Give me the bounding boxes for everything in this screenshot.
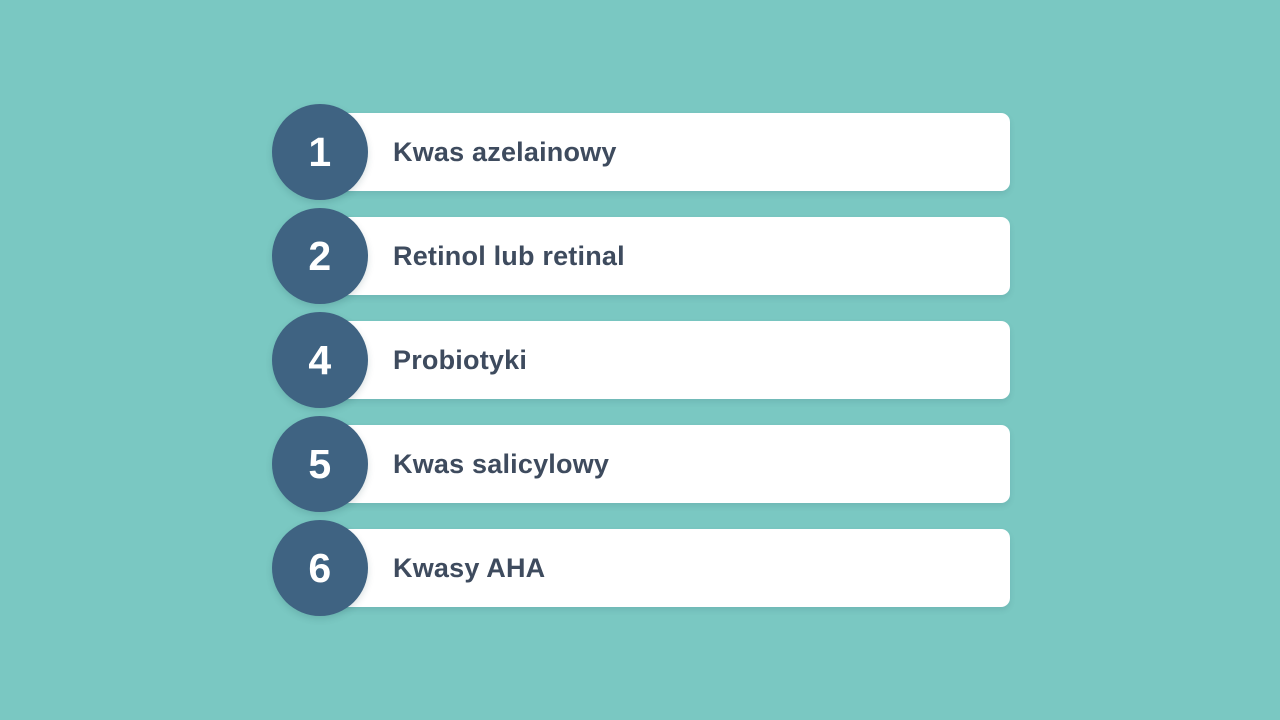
list-item-number-badge: 6 bbox=[272, 520, 368, 616]
list-item-number: 5 bbox=[308, 444, 331, 485]
list-item[interactable]: 2 Retinol lub retinal bbox=[0, 217, 1280, 295]
list-item-label: Probiotyki bbox=[393, 321, 527, 399]
list-item-label: Kwasy AHA bbox=[393, 529, 545, 607]
list-item-number: 4 bbox=[308, 340, 331, 381]
list-item-label: Kwas salicylowy bbox=[393, 425, 609, 503]
list-item-label: Retinol lub retinal bbox=[393, 217, 625, 295]
list-item-number-badge: 1 bbox=[272, 104, 368, 200]
slide-canvas: 1 Kwas azelainowy 2 Retinol lub retinal … bbox=[0, 0, 1280, 720]
list-item[interactable]: 1 Kwas azelainowy bbox=[0, 113, 1280, 191]
list-item-number-badge: 4 bbox=[272, 312, 368, 408]
list-item[interactable]: 5 Kwas salicylowy bbox=[0, 425, 1280, 503]
list-item[interactable]: 4 Probiotyki bbox=[0, 321, 1280, 399]
list-item[interactable]: 6 Kwasy AHA bbox=[0, 529, 1280, 607]
list-item-label: Kwas azelainowy bbox=[393, 113, 617, 191]
list-item-number: 6 bbox=[308, 548, 331, 589]
list-item-number-badge: 5 bbox=[272, 416, 368, 512]
list-item-number-badge: 2 bbox=[272, 208, 368, 304]
list-item-number: 1 bbox=[308, 132, 331, 173]
list-item-number: 2 bbox=[308, 236, 331, 277]
numbered-list: 1 Kwas azelainowy 2 Retinol lub retinal … bbox=[0, 113, 1280, 633]
